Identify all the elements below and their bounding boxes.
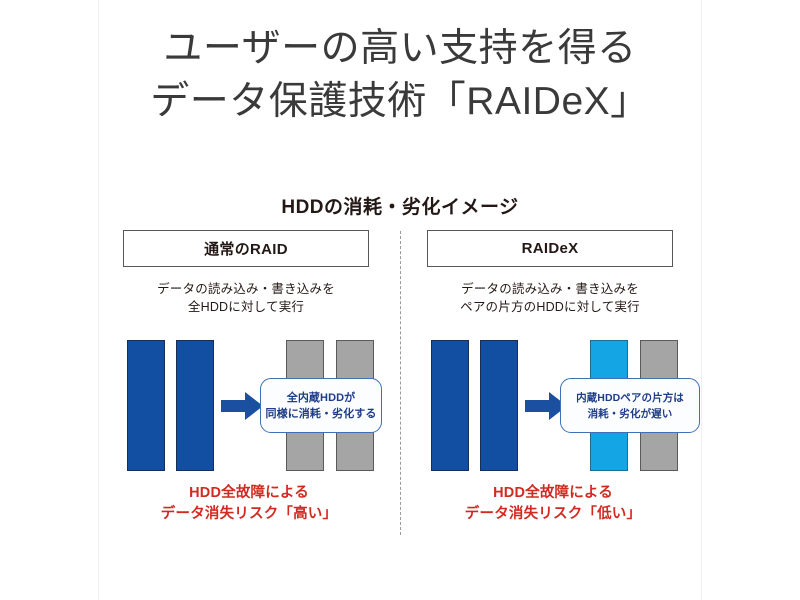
hdd-bar-1	[127, 340, 165, 471]
hdd-bar-2	[176, 340, 214, 471]
panel-normal-raid: 通常のRAID データの読み込み・書き込みを 全HDDに対して実行	[123, 230, 375, 316]
callout-line-2: 消耗・劣化が遅い	[576, 406, 684, 422]
panel-description-raidex: データの読み込み・書き込みを ペアの片方のHDDに対して実行	[427, 280, 673, 316]
risk-line-2: データ消失リスク「高い」	[123, 504, 375, 525]
title-line-1: ユーザーの高い支持を得る	[0, 22, 800, 75]
panel-header-normal-raid: 通常のRAID	[123, 230, 369, 267]
callout-raidex: 内蔵HDDペアの片方は 消耗・劣化が遅い	[560, 378, 700, 433]
panel-description-line-2: ペアの片方のHDDに対して実行	[427, 298, 673, 316]
panel-raidex: RAIDeX データの読み込み・書き込みを ペアの片方のHDDに対して実行	[427, 230, 679, 316]
diagram-raidex: 内蔵HDDペアの片方は 消耗・劣化が遅い	[427, 340, 679, 471]
right-arrow-icon	[221, 392, 263, 420]
risk-line-2: データ消失リスク「低い」	[427, 504, 679, 525]
hdd-bar-2	[480, 340, 518, 471]
callout-line-2: 同様に消耗・劣化する	[266, 406, 377, 422]
risk-line-1: HDD全故障による	[427, 483, 679, 504]
risk-text-raidex: HDD全故障による データ消失リスク「低い」	[427, 483, 679, 525]
callout-normal-raid: 全内蔵HDDが 同様に消耗・劣化する	[260, 378, 382, 433]
panel-description-line-2: 全HDDに対して実行	[123, 298, 369, 316]
diagram-normal-raid: 全内蔵HDDが 同様に消耗・劣化する	[123, 340, 375, 471]
panel-description-normal-raid: データの読み込み・書き込みを 全HDDに対して実行	[123, 280, 369, 316]
slide-canvas: ユーザーの高い支持を得る データ保護技術「RAIDeX」 HDDの消耗・劣化イメ…	[0, 0, 800, 600]
risk-line-1: HDD全故障による	[123, 483, 375, 504]
risk-text-normal-raid: HDD全故障による データ消失リスク「高い」	[123, 483, 375, 525]
panel-header-raidex: RAIDeX	[427, 230, 673, 267]
section-subtitle: HDDの消耗・劣化イメージ	[0, 192, 800, 219]
hdd-bar-1	[431, 340, 469, 471]
panel-description-line-1: データの読み込み・書き込みを	[427, 280, 673, 298]
page-title: ユーザーの高い支持を得る データ保護技術「RAIDeX」	[0, 22, 800, 128]
callout-line-1: 内蔵HDDペアの片方は	[576, 390, 684, 406]
title-line-2: データ保護技術「RAIDeX」	[0, 75, 800, 128]
callout-line-1: 全内蔵HDDが	[266, 390, 377, 406]
panel-description-line-1: データの読み込み・書き込みを	[123, 280, 369, 298]
panel-divider	[400, 231, 401, 535]
